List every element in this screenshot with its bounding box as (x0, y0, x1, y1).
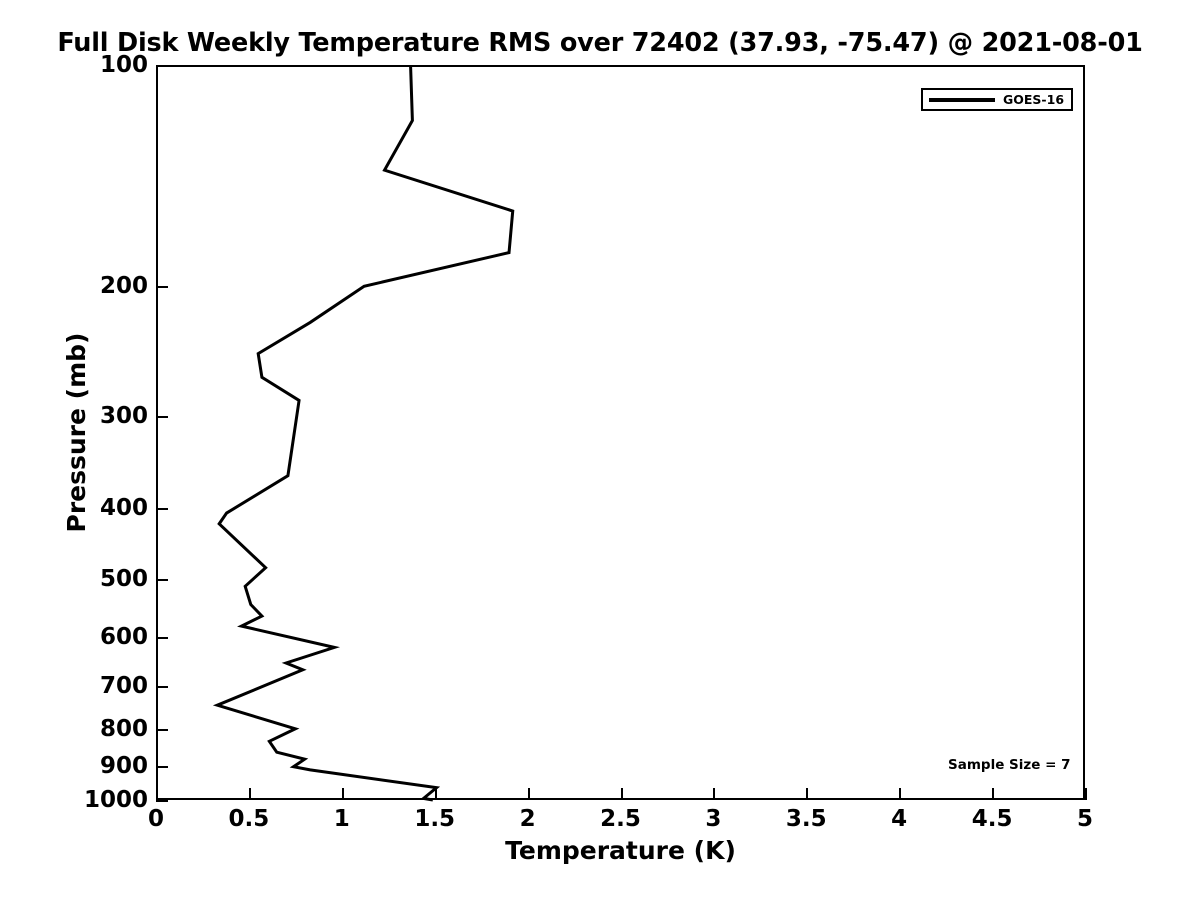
x-tick-label-2.5: 2.5 (600, 806, 641, 832)
legend: GOES-16 (921, 88, 1073, 111)
x-tick-label-3.5: 3.5 (786, 806, 827, 832)
y-tick-label-300: 300 (100, 403, 148, 429)
y-tick-label-900: 900 (100, 753, 148, 779)
y-tick-400 (156, 508, 168, 510)
legend-label-goes-16: GOES-16 (1003, 92, 1064, 107)
x-tick-label-1.5: 1.5 (414, 806, 455, 832)
x-tick-3 (713, 788, 715, 800)
y-tick-label-800: 800 (100, 716, 148, 742)
x-tick-label-2: 2 (520, 806, 536, 832)
x-tick-label-1: 1 (334, 806, 350, 832)
y-tick-label-700: 700 (100, 673, 148, 699)
x-tick-label-3: 3 (705, 806, 721, 832)
y-tick-300 (156, 416, 168, 418)
sample-size-annotation: Sample Size = 7 (948, 757, 1071, 773)
y-tick-500 (156, 579, 168, 581)
x-tick-3.5 (806, 788, 808, 800)
y-axis-label: Pressure (mb) (62, 65, 91, 800)
y-tick-label-100: 100 (100, 52, 148, 78)
y-tick-label-1000: 1000 (84, 787, 148, 813)
y-tick-700 (156, 686, 168, 688)
x-tick-2 (528, 788, 530, 800)
y-tick-label-400: 400 (100, 495, 148, 521)
x-tick-4 (899, 788, 901, 800)
x-tick-0 (156, 788, 158, 800)
y-tick-800 (156, 729, 168, 731)
x-tick-1.5 (435, 788, 437, 800)
y-tick-label-200: 200 (100, 273, 148, 299)
x-tick-label-5: 5 (1077, 806, 1093, 832)
x-tick-label-4.5: 4.5 (972, 806, 1013, 832)
x-tick-1 (342, 788, 344, 800)
x-tick-5 (1085, 788, 1087, 800)
y-tick-600 (156, 637, 168, 639)
x-tick-4.5 (992, 788, 994, 800)
x-tick-label-4: 4 (891, 806, 907, 832)
page-title: Full Disk Weekly Temperature RMS over 72… (0, 28, 1200, 58)
plot-axes-frame (156, 65, 1085, 800)
y-tick-900 (156, 766, 168, 768)
figure-canvas: Full Disk Weekly Temperature RMS over 72… (0, 0, 1200, 900)
x-tick-label-0: 0 (148, 806, 164, 832)
y-tick-100 (156, 65, 168, 67)
x-axis-label: Temperature (K) (156, 836, 1085, 865)
x-tick-0.5 (249, 788, 251, 800)
y-tick-1000 (156, 800, 168, 802)
y-tick-label-600: 600 (100, 624, 148, 650)
y-tick-200 (156, 286, 168, 288)
x-tick-2.5 (621, 788, 623, 800)
legend-line-swatch-goes-16 (929, 98, 995, 102)
x-tick-label-0.5: 0.5 (229, 806, 270, 832)
y-tick-label-500: 500 (100, 566, 148, 592)
